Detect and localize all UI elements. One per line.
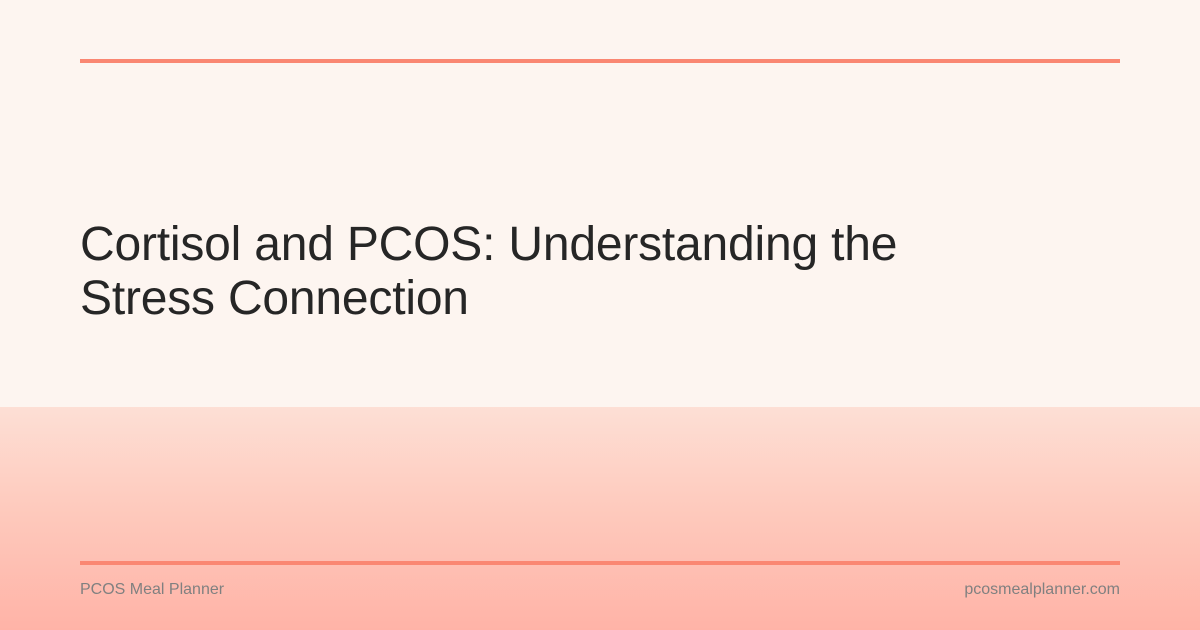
footer: PCOS Meal Planner pcosmealplanner.com <box>80 580 1120 600</box>
top-divider-rule <box>80 59 1120 63</box>
headline-block: Cortisol and PCOS: Understanding the Str… <box>80 218 1020 326</box>
footer-brand-name: PCOS Meal Planner <box>80 580 224 600</box>
page-title: Cortisol and PCOS: Understanding the Str… <box>80 218 1010 326</box>
social-share-card: Cortisol and PCOS: Understanding the Str… <box>0 0 1200 630</box>
bottom-divider-rule <box>80 561 1120 565</box>
footer-domain: pcosmealplanner.com <box>964 580 1120 600</box>
